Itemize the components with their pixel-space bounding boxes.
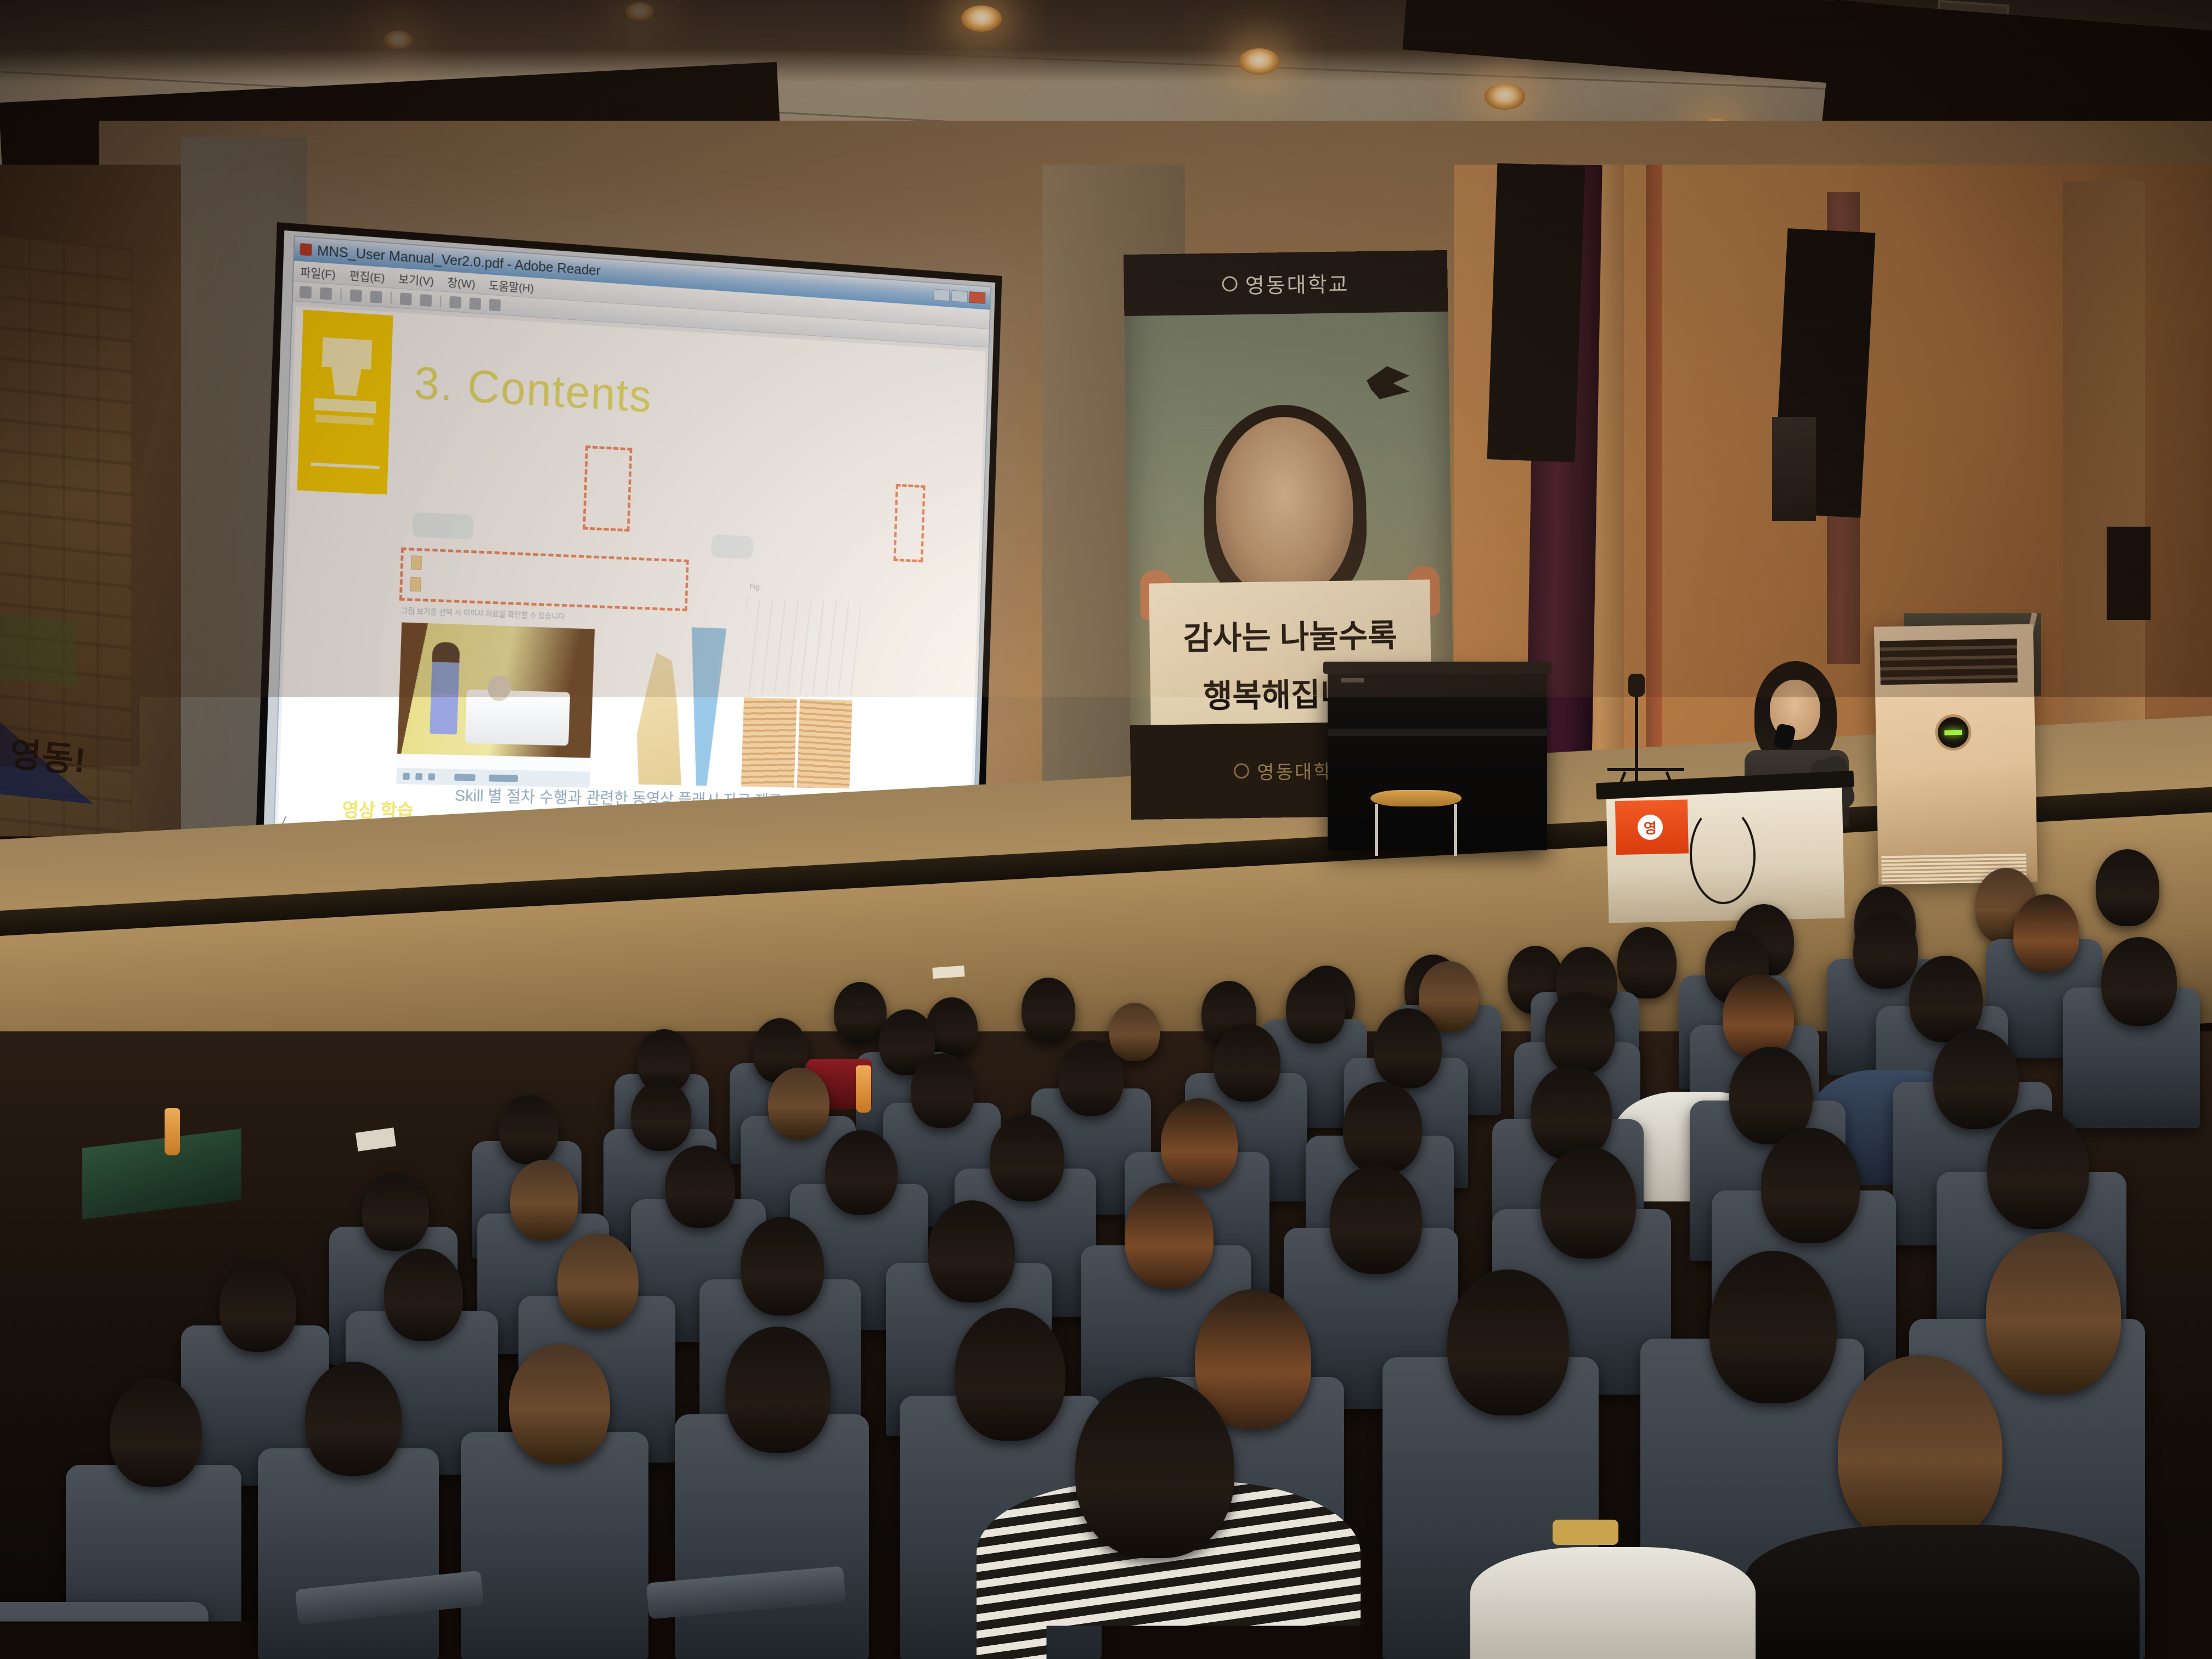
audience-head bbox=[1343, 1082, 1422, 1174]
blue-wedge-graphic bbox=[686, 627, 726, 786]
menu-item-edit[interactable]: 편집(E) bbox=[349, 267, 385, 285]
slide-title: 3. Contents bbox=[413, 356, 653, 423]
audience-shoulders bbox=[1470, 1547, 1756, 1659]
audience-head bbox=[1109, 1003, 1160, 1061]
mural-green-shape bbox=[0, 613, 77, 687]
audience-shoulders bbox=[1745, 1525, 2140, 1659]
audience-head bbox=[1374, 1008, 1442, 1088]
wall-accent-stripe bbox=[1646, 165, 1662, 812]
paper-on-floor bbox=[932, 966, 964, 979]
audience-head bbox=[1541, 1147, 1636, 1259]
toolbar-separator bbox=[391, 292, 392, 304]
bench-leg bbox=[1375, 804, 1378, 856]
piano-lid-top bbox=[1323, 662, 1551, 674]
university-logo-icon bbox=[1222, 276, 1238, 291]
university-logo-icon bbox=[1234, 763, 1249, 778]
menu-item-view[interactable]: 보기(V) bbox=[398, 270, 434, 289]
audience-head bbox=[1723, 974, 1794, 1059]
audience-head bbox=[1022, 978, 1075, 1042]
university-emblem-icon bbox=[319, 337, 374, 397]
zoom-in-icon[interactable] bbox=[420, 294, 432, 306]
logo-underline bbox=[311, 462, 380, 469]
audience-head bbox=[1545, 992, 1615, 1074]
dashed-callout-box bbox=[583, 445, 632, 532]
bench-leg bbox=[1454, 804, 1457, 856]
list-icon bbox=[410, 577, 421, 591]
list-icon bbox=[411, 555, 422, 569]
audience-head bbox=[2096, 849, 2159, 926]
audience-head bbox=[384, 1249, 463, 1341]
figure-label: Fig. bbox=[749, 582, 761, 591]
audience-head bbox=[1214, 1024, 1280, 1102]
banner-header-text: 영동대학교 bbox=[1245, 267, 1350, 299]
drink-bottle bbox=[856, 1065, 871, 1113]
audience-head bbox=[1447, 1269, 1569, 1415]
mural-text: 영동! bbox=[8, 726, 89, 782]
audience-head bbox=[1075, 1377, 1234, 1558]
wall-mural bbox=[0, 234, 132, 896]
previous-page-icon[interactable] bbox=[350, 289, 362, 302]
dashed-callout-box bbox=[893, 484, 925, 562]
audience-head bbox=[557, 1233, 639, 1329]
audience-head bbox=[1531, 1065, 1612, 1160]
pdf-slide-page: 3. Contents 그림 보기를 선택 시 이미지 자료를 확인할 수 있습… bbox=[278, 306, 985, 844]
seat bbox=[0, 1602, 208, 1659]
wall-panel-dark bbox=[2107, 527, 2151, 620]
select-tool-icon[interactable] bbox=[449, 296, 461, 308]
toolbar-separator bbox=[440, 295, 442, 307]
dashed-callout-bar bbox=[399, 548, 689, 611]
audience-head bbox=[510, 1160, 578, 1240]
ceiling-downlight bbox=[1485, 83, 1525, 110]
ceiling-downlight bbox=[625, 2, 654, 21]
audience-head bbox=[631, 1081, 691, 1151]
audience-head bbox=[1838, 1355, 2002, 1547]
zoom-out-icon[interactable] bbox=[400, 292, 412, 305]
emblem-base bbox=[314, 398, 376, 413]
podium-cable bbox=[1689, 805, 1757, 905]
ceiling-downlight bbox=[961, 5, 1002, 32]
audience-head bbox=[1986, 1232, 2121, 1393]
piano-bench bbox=[1370, 790, 1462, 856]
progress-bar[interactable] bbox=[454, 774, 476, 781]
hand-illustration bbox=[635, 652, 696, 785]
audience-head bbox=[499, 1095, 558, 1164]
video-thumbnail[interactable] bbox=[397, 622, 595, 758]
ghost-button bbox=[711, 534, 753, 559]
toolbar-separator bbox=[340, 289, 342, 301]
audience-head bbox=[1933, 1029, 2019, 1129]
seat bbox=[461, 1432, 648, 1659]
audience-head bbox=[665, 1145, 735, 1228]
adobe-reader-icon bbox=[300, 243, 312, 256]
menu-item-window[interactable]: 창(W) bbox=[447, 274, 476, 292]
air-conditioner-unit[interactable] bbox=[1874, 624, 2038, 885]
bird-logo-icon bbox=[1367, 366, 1410, 399]
banner-sign-line-1: 감사는 나눌수록 bbox=[1149, 609, 1431, 659]
pause-icon[interactable] bbox=[415, 773, 422, 780]
tissue-texture-image bbox=[741, 697, 797, 787]
ceiling-downlight bbox=[384, 31, 413, 49]
audience-head bbox=[110, 1378, 202, 1487]
audience-head bbox=[911, 1053, 974, 1128]
close-button[interactable] bbox=[969, 291, 986, 304]
wristwatch bbox=[1553, 1520, 1618, 1545]
audience-head bbox=[1853, 913, 1918, 989]
audience-head bbox=[928, 1200, 1015, 1302]
audience-head bbox=[1617, 927, 1677, 998]
audience-head bbox=[1709, 1251, 1837, 1403]
lectern-podium: 영 bbox=[1606, 787, 1845, 923]
banner-header: 영동대학교 bbox=[1124, 250, 1448, 316]
audience-head bbox=[509, 1344, 610, 1464]
hospital-bed bbox=[465, 690, 571, 746]
play-icon[interactable] bbox=[403, 773, 410, 780]
volume-slider[interactable] bbox=[489, 775, 518, 782]
piano-brand-plate bbox=[1341, 678, 1364, 682]
menu-item-help[interactable]: 도움말(H) bbox=[488, 276, 534, 296]
comment-icon[interactable] bbox=[489, 298, 501, 311]
audience-head bbox=[2013, 894, 2079, 972]
audience-head bbox=[825, 1130, 898, 1215]
ac-display-panel[interactable] bbox=[1935, 714, 1972, 751]
seat bbox=[258, 1448, 439, 1659]
audience-head bbox=[955, 1308, 1065, 1441]
bench-seat bbox=[1370, 790, 1462, 806]
maximize-button[interactable] bbox=[951, 290, 968, 303]
slide-caption-small: 그림 보기를 선택 시 이미지 자료를 확인할 수 있습니다 bbox=[401, 605, 565, 622]
stop-icon[interactable] bbox=[428, 774, 435, 781]
audience-head bbox=[1330, 1165, 1422, 1274]
audience-head bbox=[768, 1068, 830, 1139]
audience-head bbox=[1161, 1098, 1238, 1188]
highlight-icon[interactable] bbox=[469, 297, 481, 310]
slide-logo-block bbox=[297, 309, 393, 494]
audience-head bbox=[305, 1362, 402, 1476]
window-controls[interactable] bbox=[933, 289, 985, 304]
wall-speaker bbox=[1772, 417, 1816, 521]
nurse-figure bbox=[430, 642, 460, 735]
audience-head bbox=[362, 1173, 429, 1251]
adobe-reader-window[interactable]: MNS_User Manual_Ver2.0.pdf - Adobe Reade… bbox=[273, 235, 991, 862]
emblem-text-bar bbox=[315, 415, 374, 426]
audience-head bbox=[1761, 1128, 1860, 1243]
ceiling-downlight bbox=[1239, 48, 1279, 75]
ghost-button bbox=[412, 512, 473, 539]
ac-vent-louvres bbox=[1880, 639, 2017, 685]
anatomy-diagram bbox=[743, 598, 861, 696]
minimize-button[interactable] bbox=[933, 289, 950, 302]
audience-head bbox=[2101, 937, 2177, 1026]
next-page-icon[interactable] bbox=[370, 290, 382, 303]
piano-keyboard-lid bbox=[1328, 729, 1547, 736]
audience-head bbox=[1059, 1040, 1124, 1116]
open-file-icon[interactable] bbox=[300, 286, 312, 298]
audience-head bbox=[990, 1115, 1064, 1201]
wall-panel-dark bbox=[1487, 163, 1585, 462]
tissue-texture-image bbox=[797, 699, 853, 788]
audience-head bbox=[741, 1217, 824, 1316]
print-icon[interactable] bbox=[320, 287, 332, 300]
audience-head bbox=[1987, 1109, 2089, 1229]
menu-item-file[interactable]: 파일(F) bbox=[300, 263, 336, 282]
audience-head bbox=[1286, 974, 1345, 1043]
audience-head bbox=[834, 982, 887, 1043]
auditorium-scene: 영동! MNS_User Manual_Ver2.0.pdf - Adobe R… bbox=[0, 0, 2212, 1659]
audience-head bbox=[1125, 1183, 1214, 1288]
ac-status-led-icon bbox=[1944, 730, 1962, 735]
drink-bottle bbox=[165, 1108, 180, 1155]
audience-head bbox=[725, 1327, 831, 1453]
